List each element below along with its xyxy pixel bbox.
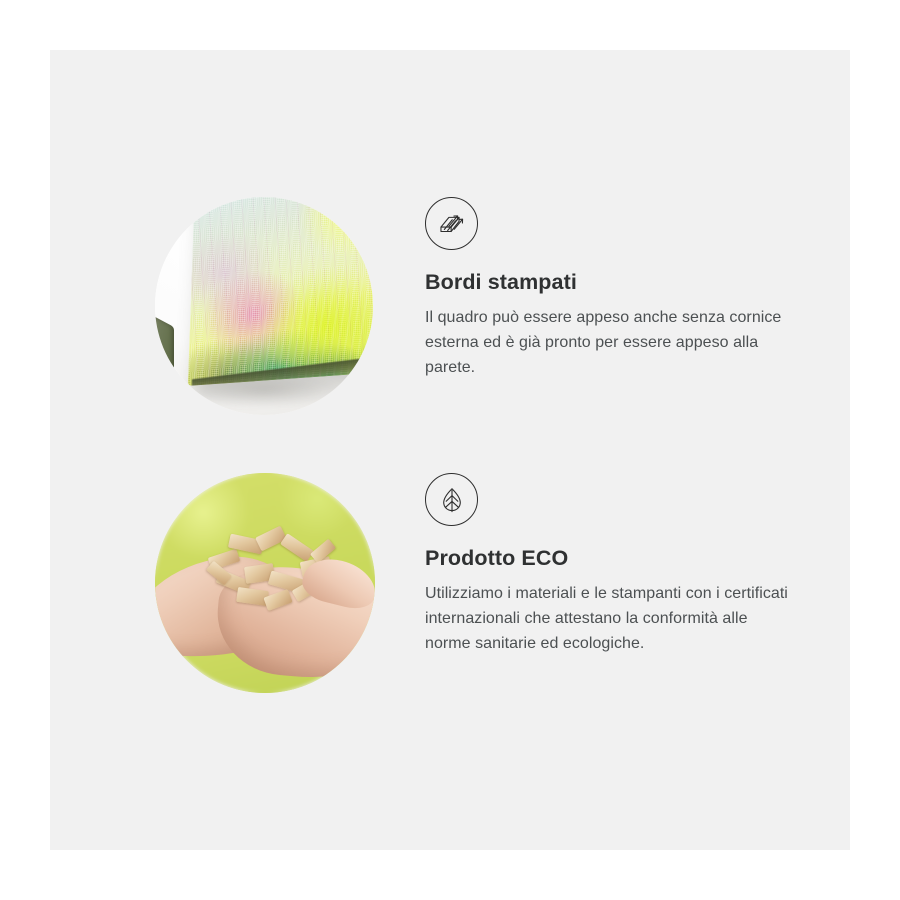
feature-text-printed-edges: Bordi stampati Il quadro può essere appe… [425, 197, 797, 380]
canvas-weave-texture [188, 197, 373, 386]
feature-description: Utilizziamo i materiali e le stampanti c… [425, 581, 797, 656]
feature-title: Prodotto ECO [425, 546, 797, 572]
photo-backdrop-green-bokeh [155, 473, 375, 693]
printed-edges-glyph [437, 209, 467, 239]
content-panel: Bordi stampati Il quadro può essere appe… [50, 50, 850, 850]
feature-text-eco-product: Prodotto ECO Utilizziamo i materiali e l… [425, 473, 797, 656]
leaf-icon [425, 473, 478, 526]
hands-holding-wood-chips-photo [155, 473, 375, 693]
feature-title: Bordi stampati [425, 270, 797, 296]
product-feature-infographic: Bordi stampati Il quadro può essere appe… [0, 0, 900, 900]
canvas-side-edge [155, 311, 174, 401]
printed-canvas-corner-photo [155, 197, 373, 415]
printed-edges-icon [425, 197, 478, 250]
leaf-glyph [437, 485, 467, 515]
photo-backdrop-white-surface [155, 197, 373, 415]
wood-chip [280, 533, 314, 562]
canvas-block [188, 197, 373, 386]
feature-description: Il quadro può essere appeso anche senza … [425, 305, 797, 380]
